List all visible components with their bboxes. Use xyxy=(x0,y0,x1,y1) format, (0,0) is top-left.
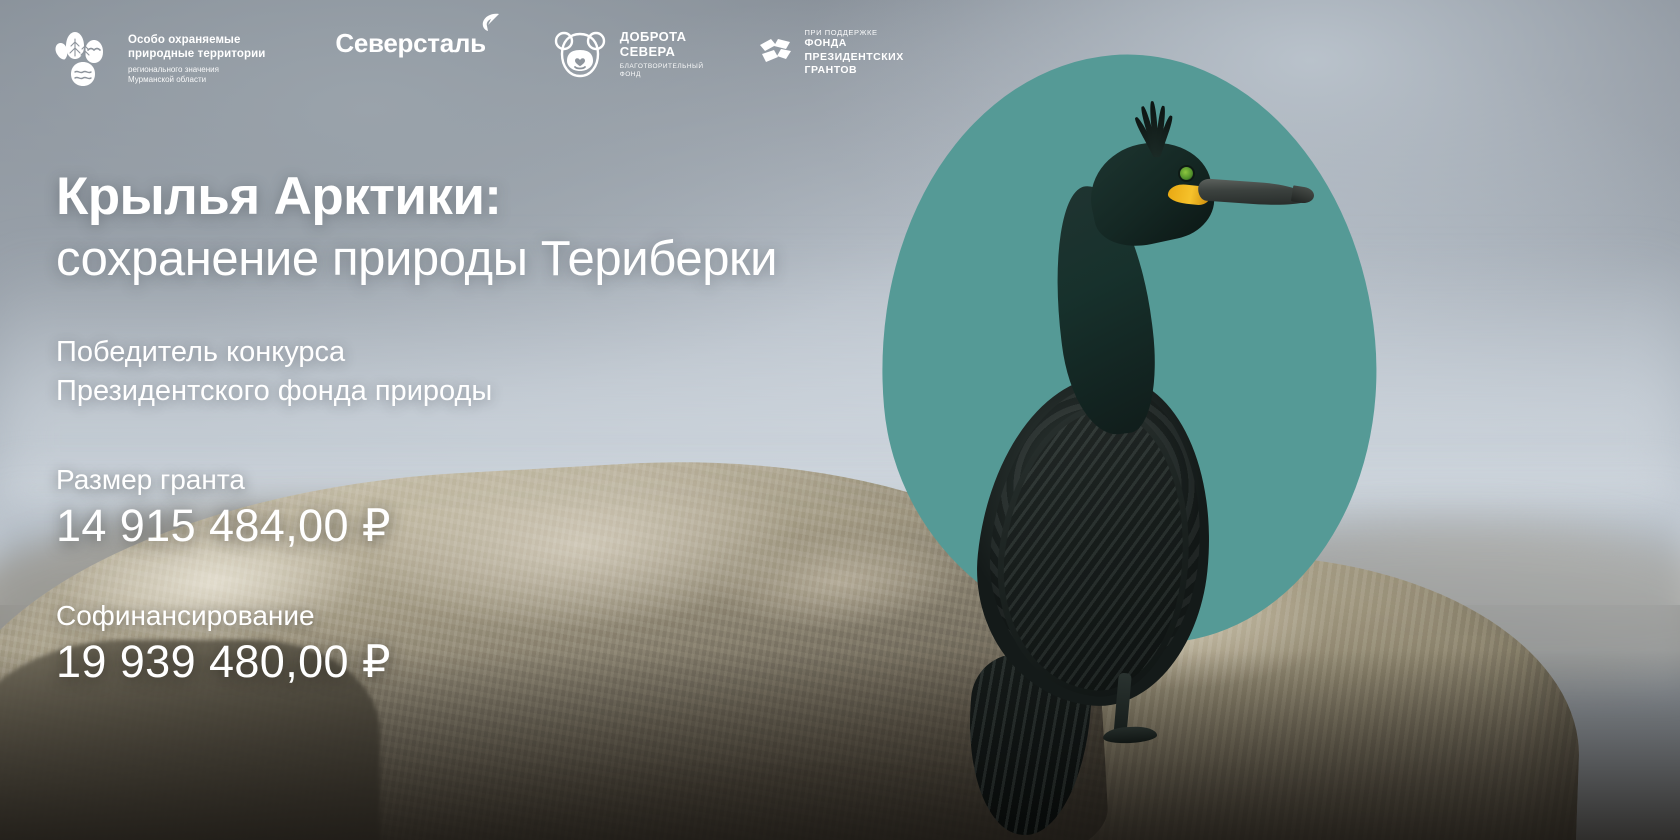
dobrota-line3: БЛАГОТВОРИТЕЛЬНЫЙ xyxy=(620,63,704,70)
nature-reserve-wordmark: Особо охраняемые природные территории ре… xyxy=(128,34,265,84)
nature-reserve-line1: Особо охраняемые xyxy=(128,34,265,48)
presidential-grants-wordmark: ПРИ ПОДДЕРЖКЕ ФОНДА ПРЕЗИДЕНТСКИХ ГРАНТО… xyxy=(805,28,904,77)
dobrota-severa-wordmark: ДОБРОТА СЕВЕРА БЛАГОТВОРИТЕЛЬНЫЙ ФОНД xyxy=(620,30,704,78)
cofinancing-value: 19 939 480,00 ₽ xyxy=(56,636,777,688)
headline-line2: сохранение природы Териберки xyxy=(56,232,777,287)
bird-foot xyxy=(1103,726,1158,745)
dobrota-line2: СЕВЕРА xyxy=(620,45,704,60)
presidential-line2: ФОНДА xyxy=(805,37,904,50)
dobrota-line4: ФОНД xyxy=(620,71,704,78)
presidential-line4: ГРАНТОВ xyxy=(805,64,904,77)
cofinancing-amount-block: Софинансирование 19 939 480,00 ₽ xyxy=(56,599,777,689)
logo-severstal[interactable]: Северсталь xyxy=(335,28,495,59)
logo-dobrota-severa[interactable]: ДОБРОТА СЕВЕРА БЛАГОТВОРИТЕЛЬНЫЙ ФОНД xyxy=(552,28,704,80)
subtitle-line2: Президентского фонда природы xyxy=(56,372,777,411)
presidential-line3: ПРЕЗИДЕНТСКИХ xyxy=(805,51,904,64)
subtitle-block: Победитель конкурса Президентского фонда… xyxy=(56,333,777,411)
nature-reserve-line2: природные территории xyxy=(128,48,265,62)
headline-line1: Крылья Арктики: xyxy=(56,168,777,226)
grant-value: 14 915 484,00 ₽ xyxy=(56,500,777,552)
severstal-swirl-icon xyxy=(476,12,502,38)
logo-presidential-grants[interactable]: ПРИ ПОДДЕРЖКЕ ФОНДА ПРЕЗИДЕНТСКИХ ГРАНТО… xyxy=(758,28,904,77)
sponsor-logo-bar: Особо охраняемые природные территории ре… xyxy=(52,28,904,90)
bird-crest xyxy=(1118,91,1196,157)
grant-label: Размер гранта xyxy=(56,463,777,497)
presidential-line1: ПРИ ПОДДЕРЖКЕ xyxy=(805,28,904,37)
logo-nature-reserve[interactable]: Особо охраняемые природные территории ре… xyxy=(52,28,265,90)
severstal-wordmark: Северсталь xyxy=(335,28,485,59)
nature-reserve-line3: регионального значения xyxy=(128,65,265,74)
nature-reserve-icon xyxy=(52,28,114,90)
bear-heart-icon xyxy=(552,28,608,80)
bird-bill-hook xyxy=(1291,185,1315,204)
subtitle-line1: Победитель конкурса xyxy=(56,333,777,372)
cofinancing-label: Софинансирование xyxy=(56,599,777,633)
grant-amount-block: Размер гранта 14 915 484,00 ₽ xyxy=(56,463,777,553)
main-copy-block: Крылья Арктики: сохранение природы Териб… xyxy=(56,168,777,688)
cormorant-bird-illustration xyxy=(940,75,1340,795)
dobrota-line1: ДОБРОТА xyxy=(620,30,704,45)
presidential-grants-flag-icon xyxy=(758,36,794,68)
bird-eye xyxy=(1180,167,1193,180)
nature-reserve-line4: Мурманской области xyxy=(128,75,265,84)
